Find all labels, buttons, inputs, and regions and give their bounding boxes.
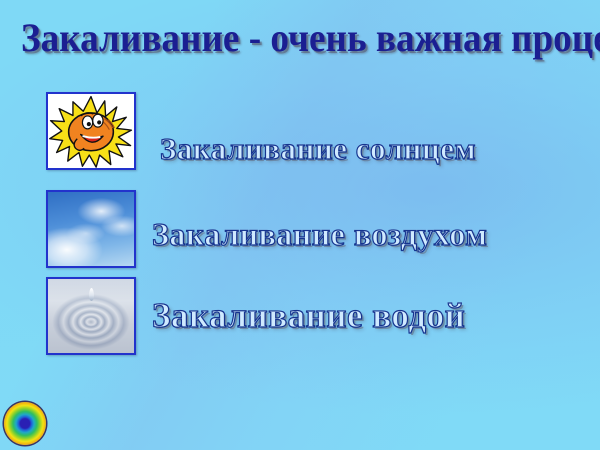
sky-thumbnail[interactable] (46, 190, 136, 268)
rainbow-circle-icon (4, 402, 46, 445)
sun-cartoon-icon (48, 94, 134, 168)
list-item-label: Закаливание солнцем (160, 131, 476, 166)
list-item-sun[interactable]: Закаливание солнцем (160, 131, 476, 167)
water-droplet-icon (89, 288, 94, 301)
list-item-air[interactable]: Закаливание воздухом (152, 216, 487, 253)
presentation-slide: Закаливание - очень важная процедура (0, 0, 600, 450)
sun-thumbnail[interactable] (46, 92, 136, 170)
sun-thumbnail-inner (48, 94, 134, 168)
water-thumbnail[interactable] (46, 277, 136, 355)
list-item-label: Закаливание воздухом (152, 216, 487, 252)
water-thumbnail-inner (48, 279, 134, 353)
sky-thumbnail-inner (48, 192, 134, 266)
page-title: Закаливание - очень важная процедура (21, 15, 579, 61)
list-item-water[interactable]: Закаливание водой (152, 296, 465, 336)
list-item-label: Закаливание водой (152, 296, 465, 335)
